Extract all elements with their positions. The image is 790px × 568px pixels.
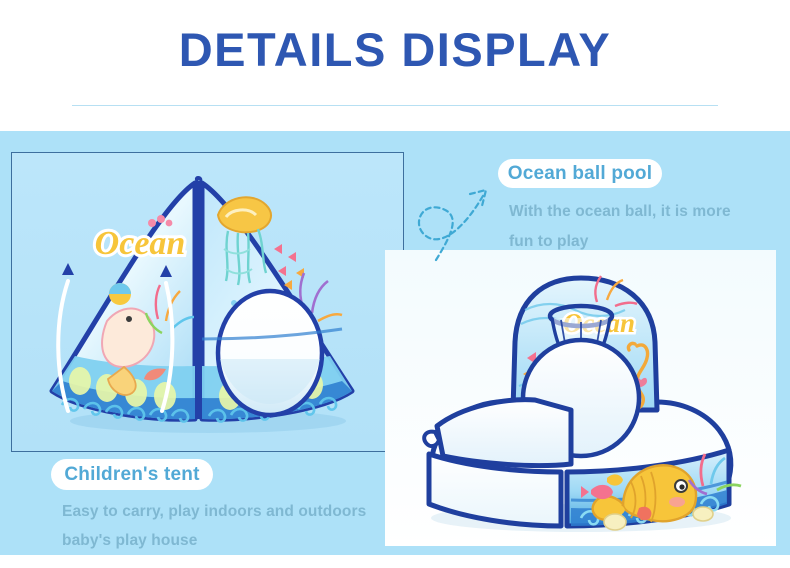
callout-text-childrens-tent-line-2: baby's play house [62, 532, 197, 550]
childrens-tent-photo-frame[interactable]: Ocean Ocean [11, 152, 404, 452]
callout-pill-childrens-tent[interactable]: Children's tent [51, 459, 213, 490]
callout-text-ocean-ball-pool-line-2: fun to play [509, 233, 588, 251]
details-display-page: DETAILS DISPLAY [0, 0, 790, 568]
svg-text:Ocean: Ocean [95, 225, 186, 262]
callout-text-ocean-ball-pool-line-1: With the ocean ball, it is more [509, 203, 731, 221]
ocean-ball-pool-photo-panel[interactable]: Ocean Ocean [385, 250, 776, 546]
title-divider [72, 105, 718, 106]
header-band: DETAILS DISPLAY [0, 0, 790, 131]
ocean-ball-pool-photo: Ocean Ocean [385, 250, 776, 546]
childrens-tent-photo: Ocean Ocean [12, 153, 403, 451]
callout-pill-ocean-ball-pool[interactable]: Ocean ball pool [498, 159, 662, 188]
page-title: DETAILS DISPLAY [0, 26, 790, 73]
footer-band [0, 555, 790, 568]
callout-text-childrens-tent-line-1: Easy to carry, play indoors and outdoors [62, 503, 366, 521]
